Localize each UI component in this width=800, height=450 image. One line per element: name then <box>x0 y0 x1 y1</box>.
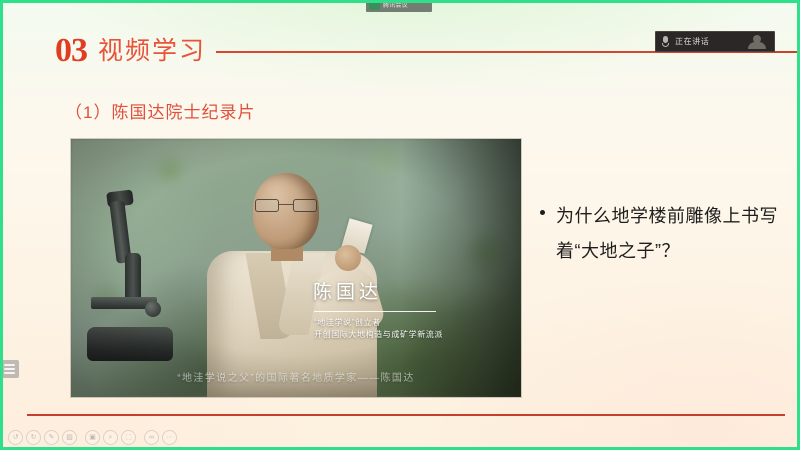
undo-button[interactable]: ↺ <box>8 430 23 445</box>
subject-role-line-2: 开创国际大地构造与成矿学新流派 <box>314 329 443 340</box>
annotation-toolbar[interactable]: ↺ ↻ ✎ ▨ ▣ ⌕ ⬚ ∞ ··· <box>8 429 177 446</box>
documentary-video-still[interactable]: 陈国达 “地洼学说”创立者 开创国际大地构造与成矿学新流派 “地洼学说之父”的国… <box>71 139 521 397</box>
presentation-screen: 03 视频学习 （1）陈国达院士纪录片 <box>0 0 800 450</box>
subject-name: 陈国达 <box>313 281 382 305</box>
slide-subtitle: （1）陈国达院士纪录片 <box>65 102 255 124</box>
subject-role-line-1: “地洼学说”创立者 <box>314 317 381 328</box>
participant-avatar-icon <box>746 34 768 49</box>
eraser-button[interactable]: ⬚ <box>121 430 136 445</box>
zoom-button[interactable]: ⌕ <box>103 430 118 445</box>
section-number: 03 <box>55 33 87 69</box>
laser-pointer-button[interactable]: ▣ <box>85 430 100 445</box>
slide-canvas: 03 视频学习 （1）陈国达院士纪录片 <box>3 3 797 447</box>
pen-button[interactable]: ✎ <box>44 430 59 445</box>
microphone-icon <box>662 36 669 47</box>
active-speaker-panel[interactable]: 正在讲话 <box>655 31 775 52</box>
more-button[interactable]: ··· <box>162 430 177 445</box>
question-text: 为什么地学楼前雕像上书写着“大地之子”？ <box>556 199 788 269</box>
screen-share-icon <box>369 3 380 10</box>
speaking-status-label: 正在讲话 <box>675 37 709 47</box>
section-title: 视频学习 <box>98 34 206 68</box>
link-button[interactable]: ∞ <box>144 430 159 445</box>
question-bullet-block: 为什么地学楼前雕像上书写着“大地之子”？ <box>540 199 788 269</box>
bottom-divider <box>27 414 785 416</box>
video-caption: “地洼学说之父”的国际著名地质学家——陈国达 <box>71 369 521 384</box>
page-title: 03 视频学习 <box>55 33 206 69</box>
bullet-dot-icon <box>540 210 545 215</box>
list-panel-icon[interactable] <box>0 360 19 378</box>
redo-button[interactable]: ↻ <box>26 430 41 445</box>
meeting-app-chip[interactable]: 腾讯会议 <box>366 1 432 12</box>
highlighter-button[interactable]: ▨ <box>62 430 77 445</box>
photo-vignette <box>71 139 521 397</box>
meeting-chip-label: 腾讯会议 <box>383 3 408 10</box>
subject-name-underline <box>314 311 436 312</box>
